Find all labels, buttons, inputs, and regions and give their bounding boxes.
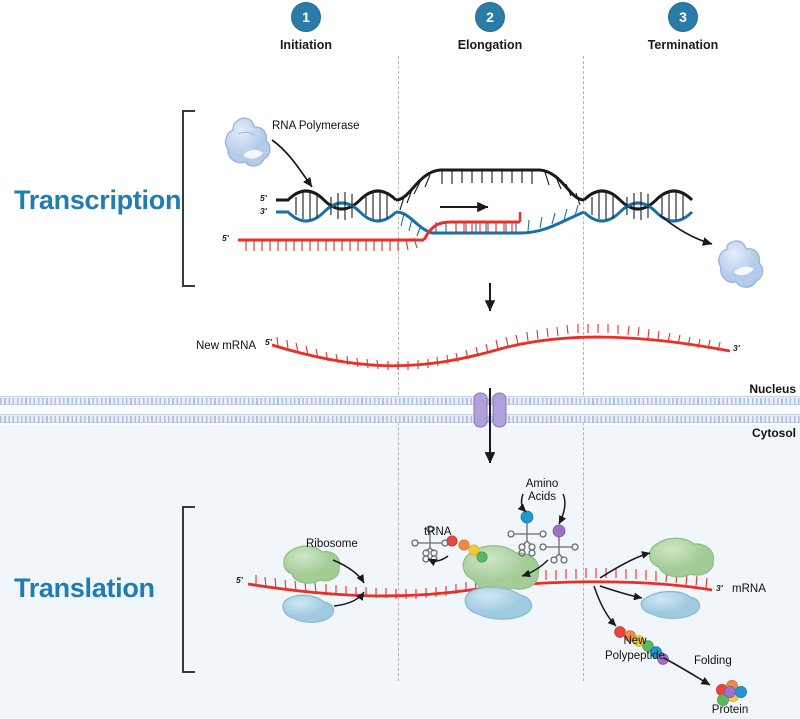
- ribosome-small-subunit-icon: [283, 595, 334, 622]
- translated-mrna-5-prime-tick: 5': [236, 575, 243, 585]
- dna-3-prime-tick: 3': [260, 206, 267, 216]
- released-ribosome-large-subunit: [650, 538, 714, 577]
- label-nucleus: Nucleus: [749, 383, 796, 397]
- label-amino-acids-line1: Amino: [526, 478, 559, 491]
- label-cytosol: Cytosol: [752, 427, 796, 441]
- label-rna-polymerase: RNA Polymerase: [272, 120, 360, 133]
- new-mrna-5-prime-tick: 5': [265, 337, 272, 347]
- translated-mrna-3-prime-tick: 3': [716, 583, 723, 593]
- folded-protein-icon: [716, 680, 746, 705]
- label-protein: Protein: [712, 704, 748, 717]
- figure-canvas: 1 Initiation 2 Elongation 3 Termination …: [0, 0, 800, 719]
- label-trna: tRNA: [424, 526, 451, 539]
- dna-5-prime-tick: 5': [260, 193, 267, 203]
- label-new-polypeptide-line1: New: [623, 635, 646, 648]
- label-folding: Folding: [694, 655, 732, 668]
- ribosome-large-subunit-icon: [284, 546, 340, 583]
- nascent-mrna-5-prime-tick: 5': [222, 233, 229, 243]
- released-ribosome-small-subunit: [641, 592, 699, 619]
- translation-graphics: [0, 0, 800, 719]
- charged-trna-icon-2: [540, 525, 578, 563]
- label-ribosome: Ribosome: [306, 538, 358, 551]
- label-mrna: mRNA: [732, 583, 766, 596]
- label-amino-acids-line2: Acids: [528, 491, 556, 504]
- new-mrna-3-prime-tick: 3': [733, 343, 740, 353]
- active-ribosome-small-subunit: [465, 587, 532, 619]
- label-new-polypeptide-line2: Polypeptide: [605, 650, 665, 663]
- label-new-mrna: New mRNA: [196, 340, 256, 353]
